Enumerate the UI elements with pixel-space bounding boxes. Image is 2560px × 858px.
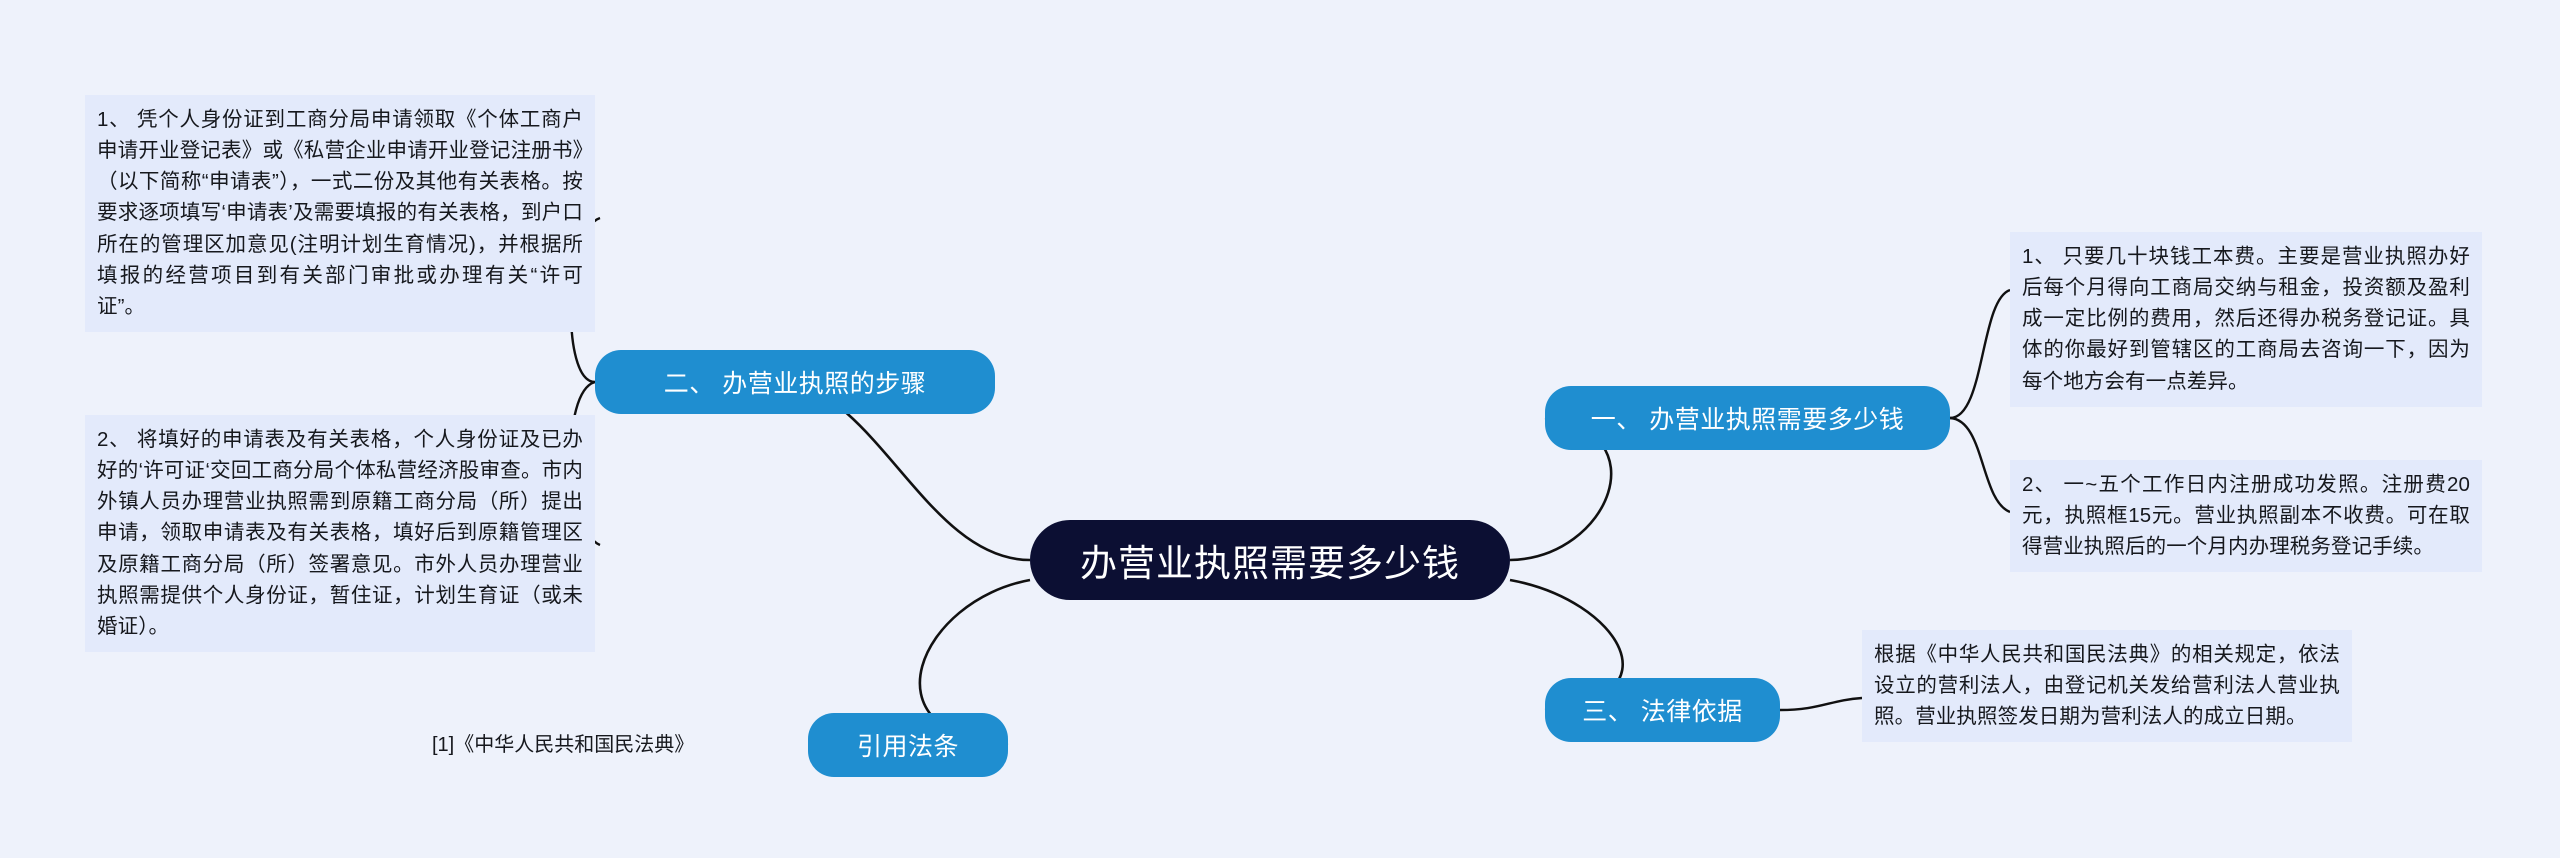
center-topic-node[interactable]: 办营业执照需要多少钱 <box>1030 520 1510 600</box>
leaf-block-legal-1[interactable]: 根据《中华人民共和国民法典》的相关规定，依法设立的营利法人，由登记机关发给营利法… <box>1862 630 2352 742</box>
branch-label-steps: 二、 办营业执照的步骤 <box>664 364 926 400</box>
center-topic-label: 办营业执照需要多少钱 <box>1080 533 1460 587</box>
branch-node-legal[interactable]: 三、 法律依据 <box>1545 678 1780 742</box>
leaf-block-cost-2[interactable]: 2、 一~五个工作日内注册成功发照。注册费20元，执照框15元。营业执照副本不收… <box>2010 460 2482 572</box>
branch-node-cost[interactable]: 一、 办营业执照需要多少钱 <box>1545 386 1950 450</box>
leaf-text-cost-2: 2、 一~五个工作日内注册成功发照。注册费20元，执照框15元。营业执照副本不收… <box>2022 473 2470 558</box>
branch-label-cost: 一、 办营业执照需要多少钱 <box>1591 400 1904 436</box>
branch-label-legal: 三、 法律依据 <box>1582 692 1742 728</box>
leaf-block-citation-1[interactable]: [1]《中华人民共和国民法典》 <box>432 730 694 760</box>
branch-label-citation: 引用法条 <box>857 727 959 763</box>
leaf-text-citation-1: [1]《中华人民共和国民法典》 <box>432 734 694 756</box>
mindmap-canvas: 办营业执照需要多少钱 二、 办营业执照的步骤 1、 凭个人身份证到工商分局申请领… <box>0 0 2560 858</box>
branch-node-steps[interactable]: 二、 办营业执照的步骤 <box>595 350 995 414</box>
branch-node-citation[interactable]: 引用法条 <box>808 713 1008 777</box>
leaf-block-steps-1[interactable]: 1、 凭个人身份证到工商分局申请领取《个体工商户申请开业登记表》或《私营企业申请… <box>85 95 595 332</box>
leaf-text-legal-1: 根据《中华人民共和国民法典》的相关规定，依法设立的营利法人，由登记机关发给营利法… <box>1874 643 2340 728</box>
leaf-text-steps-2: 2、 将填好的申请表及有关表格，个人身份证及已办好的‘许可证‘交回工商分局个体私… <box>97 428 583 638</box>
leaf-text-cost-1: 1、 只要几十块钱工本费。主要是营业执照办好后每个月得向工商局交纳与租金，投资额… <box>2022 245 2470 393</box>
leaf-block-steps-2[interactable]: 2、 将填好的申请表及有关表格，个人身份证及已办好的‘许可证‘交回工商分局个体私… <box>85 415 595 652</box>
leaf-block-cost-1[interactable]: 1、 只要几十块钱工本费。主要是营业执照办好后每个月得向工商局交纳与租金，投资额… <box>2010 232 2482 407</box>
leaf-text-steps-1: 1、 凭个人身份证到工商分局申请领取《个体工商户申请开业登记表》或《私营企业申请… <box>97 108 583 318</box>
